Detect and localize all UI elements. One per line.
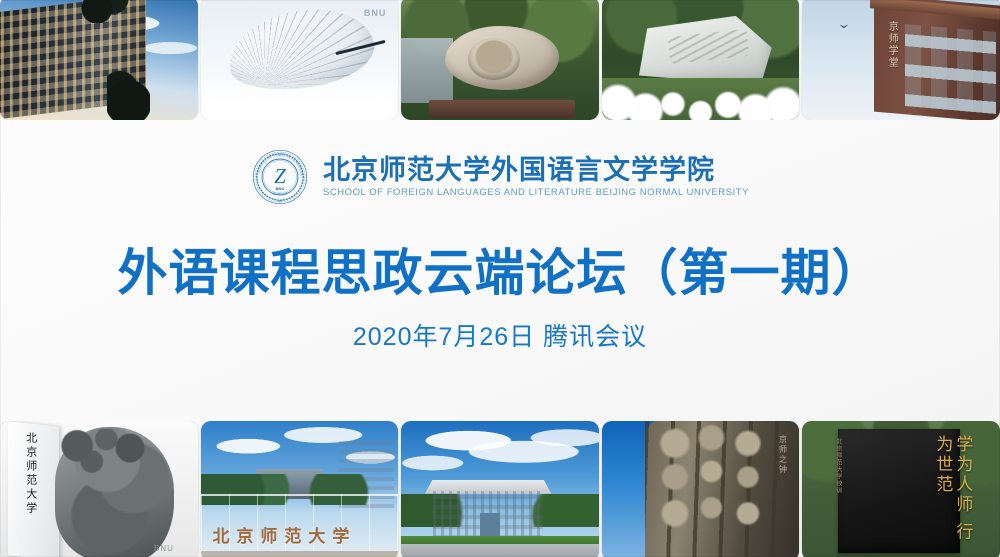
institution-name-cn: 北京师范大学外国语言文学学院: [323, 155, 749, 185]
gate-sign-caption: 北京师范大学: [212, 522, 356, 547]
carved-face: [468, 38, 519, 80]
window-grid: [905, 24, 996, 114]
photo-campus-glass-gate-sign: 北京师范大学: [201, 421, 399, 557]
top-photo-strip: BNU 京师学堂: [0, 0, 1000, 120]
bnu-watermark: BNU: [364, 8, 387, 18]
svg-text:北京师范大学: 北京师范大学: [273, 192, 288, 196]
background-building: [401, 38, 452, 102]
slide-center-content: SCHOOL OF FOREIGN LANGUAGES Z BNU 北京师范大学…: [0, 124, 1000, 421]
photo-stone-bust-sculpture: [401, 0, 599, 120]
logo-text-block: 北京师范大学外国语言文学学院 SCHOOL OF FOREIGN LANGUAG…: [323, 155, 749, 199]
white-flower-bed: [602, 78, 800, 120]
library-entrance: [480, 513, 500, 535]
bell-bosses: [645, 421, 799, 557]
building-name-caption: 京师学堂: [886, 21, 897, 69]
photo-glass-building-dusk: [0, 0, 198, 120]
road-strip: [401, 544, 599, 557]
photo-motto-monument: 北京师范大学校训 学为人师 行为世范: [802, 421, 1000, 557]
tree-foliage: [75, 0, 130, 23]
photo-inscribed-stone-flowers: [602, 0, 800, 120]
bell-inscription-caption: 京师之钟: [778, 435, 788, 475]
svg-text:BNU: BNU: [276, 186, 285, 191]
photo-parasol-sculpture-snow: BNU: [201, 0, 399, 120]
university-motto-caption: 学为人师 行为世范: [932, 435, 972, 557]
bottom-photo-strip: 北京师范大学 BNU 北京师范大学: [0, 421, 1000, 557]
photo-bronze-bell: 京师之钟: [602, 421, 800, 557]
tree-foliage: [107, 63, 150, 120]
event-subtitle: 2020年7月26日 腾讯会议: [353, 322, 647, 352]
snow-ground: [201, 78, 399, 120]
bnu-watermark: BNU: [154, 544, 174, 553]
svg-text:1902: 1902: [277, 201, 283, 203]
pedestal-base: [429, 100, 575, 117]
photo-library-wide-angle: [401, 421, 599, 557]
institution-name-en: SCHOOL OF FOREIGN LANGUAGES AND LITERATU…: [323, 187, 749, 199]
monument-side-caption: 北京师范大学校训: [834, 438, 842, 494]
svg-text:Z: Z: [274, 164, 286, 188]
presentation-slide: BNU 京师学堂: [0, 0, 1000, 557]
photo-jingshi-academy-building: 京师学堂: [802, 0, 1000, 120]
photo-stone-lion-bw: 北京师范大学 BNU: [0, 421, 198, 557]
ground-pavement: [201, 551, 399, 557]
lion-mane-curls: [59, 429, 150, 485]
institution-logo: SCHOOL OF FOREIGN LANGUAGES Z BNU 北京师范大学…: [251, 148, 749, 206]
bnu-seal-icon: SCHOOL OF FOREIGN LANGUAGES Z BNU 北京师范大学…: [251, 148, 309, 206]
university-name-caption: 北京师范大学: [24, 432, 37, 516]
page-title: 外语课程思政云端论坛（第一期）: [118, 244, 883, 302]
